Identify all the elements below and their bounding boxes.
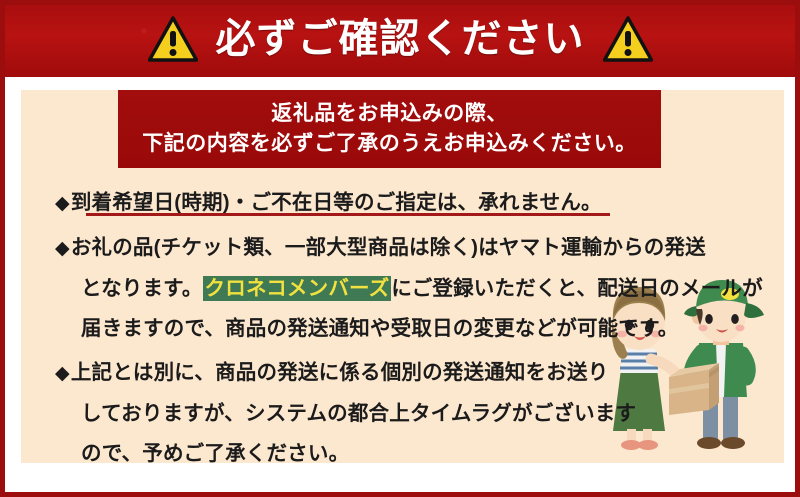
notice-line-text: 到着希望日(時期)・ご不在日等のご指定は、承れません。 [71,191,602,214]
notice-line-text: 届きますので、商品の発送通知や受取日の変更などが可能です。 [81,317,678,340]
red-underline [86,213,610,216]
notice-line: ので、予めご了承ください。 [55,434,755,474]
sub-banner-line-1: 返礼品をお申込みの際、 [271,100,508,128]
bullet-diamond-icon: ◆ [55,193,71,214]
notice-item: ◆上記とは別に、商品の発送に係る個別の発送通知をお送り しておりますが、システム… [55,353,755,474]
warning-triangle-icon [148,16,198,62]
notice-line-text: 上記とは別に、商品の発送に係る個別の発送通知をお送り [71,361,609,384]
notice-line-text: しておりますが、システムの都合上タイムラグがございます [81,402,636,425]
warning-triangle-icon [603,16,653,62]
notice-item: ◆到着希望日(時期)・ご不在日等のご指定は、承れません。 [55,183,755,224]
notice-line: ◆上記とは別に、商品の発送に係る個別の発送通知をお送り [55,353,755,394]
notice-line: ◆お礼の品(チケット類、一部大型商品は除く)はヤマト運輸からの発送 [55,228,755,269]
page-title: 必ずご確認ください [216,19,585,59]
notice-line: ◆到着希望日(時期)・ご不在日等のご指定は、承れません。 [55,183,755,224]
sub-banner-line-2: 下記の内容を必ずご了承のうえお申込みください。 [142,130,637,158]
notice-line: となります。クロネコメンバーズにご登録いただくと、配送日のメールが [55,269,755,309]
notice-item: ◆お礼の品(チケット類、一部大型商品は除く)はヤマト運輸からの発送 となります。… [55,228,755,349]
sub-banner: 返礼品をお申込みの際、 下記の内容を必ずご了承のうえお申込みください。 [118,90,661,168]
notice-poster: 必ずご確認ください 返礼品をお申込みの際、 下記の内容を必ずご了承のうえお申込み… [0,0,800,497]
notice-line-text: ので、予めご了承ください。 [81,442,349,465]
notice-line: しておりますが、システムの都合上タイムラグがございます [55,394,755,434]
notice-line-text: となります。 [81,277,203,300]
notice-line-text: にご登録いただくと、配送日のメールが [391,277,762,300]
kuroneko-members-highlight: クロネコメンバーズ [203,276,392,301]
notice-line-text: お礼の品(チケット類、一部大型商品は除く)はヤマト運輸からの発送 [71,236,706,259]
notice-line: 届きますので、商品の発送通知や受取日の変更などが可能です。 [55,309,755,349]
bullet-diamond-icon: ◆ [55,238,71,259]
header-banner: 必ずご確認ください [0,0,800,77]
notice-body: ◆到着希望日(時期)・ご不在日等のご指定は、承れません。 ◆お礼の品(チケット類… [55,183,755,478]
bullet-diamond-icon: ◆ [55,363,71,384]
